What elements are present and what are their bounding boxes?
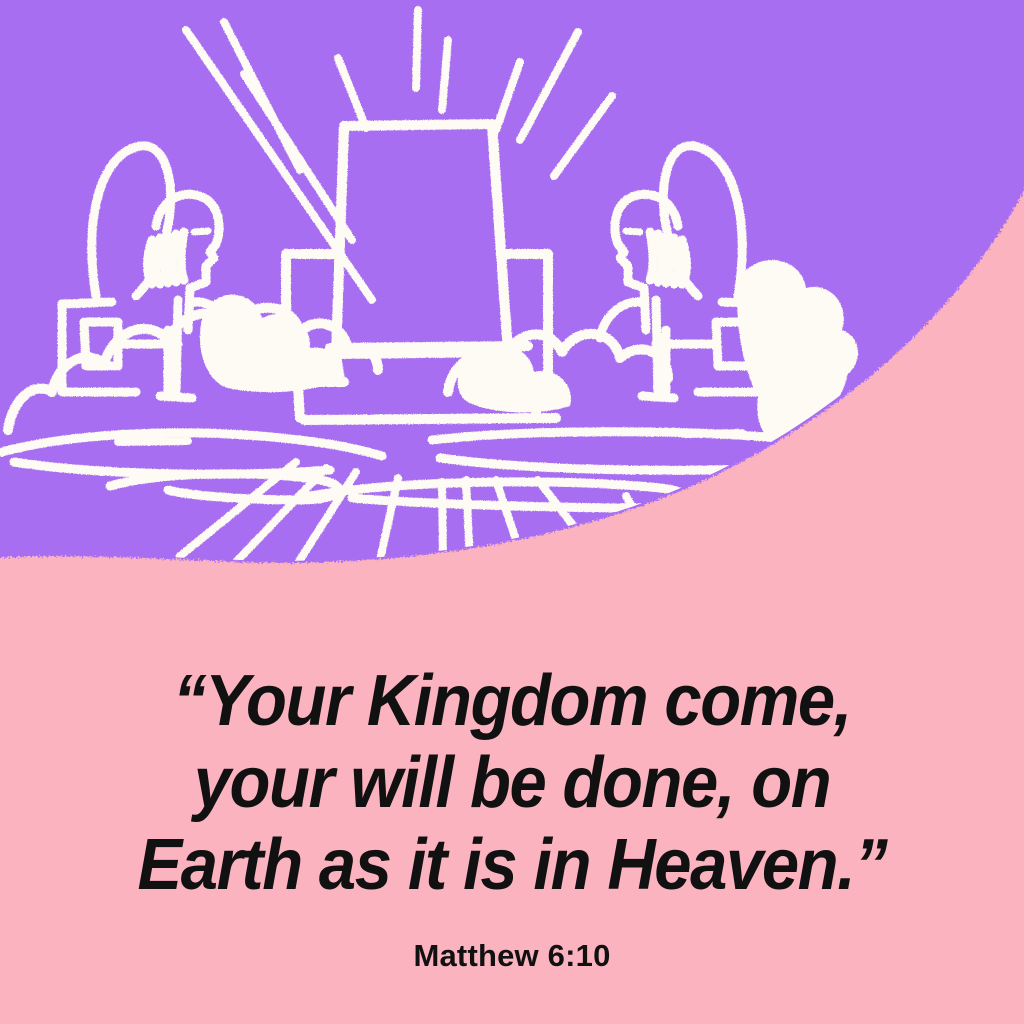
scripture-card: “Your Kingdom come, your will be done, o… bbox=[0, 0, 1024, 1024]
scripture-attribution: Matthew 6:10 bbox=[0, 938, 1024, 974]
illustration-canvas bbox=[0, 0, 1024, 1024]
